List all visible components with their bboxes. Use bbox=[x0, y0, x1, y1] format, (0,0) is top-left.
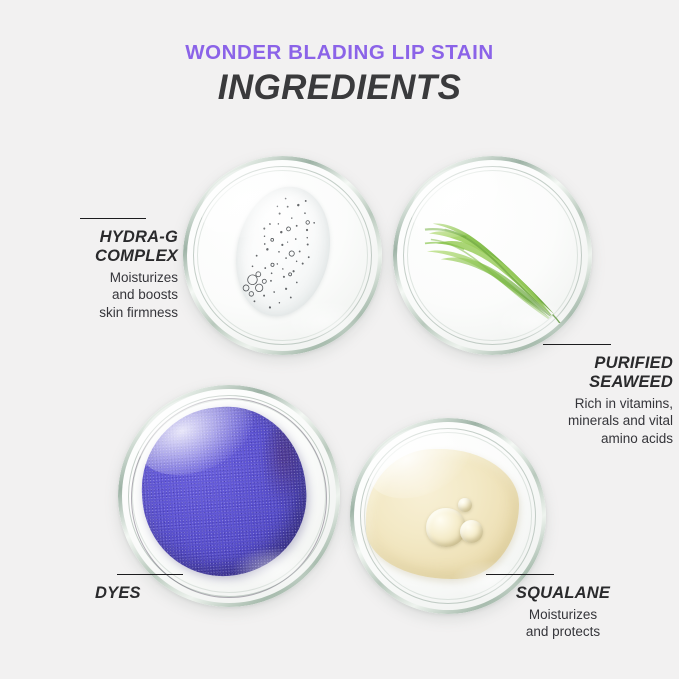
green-seaweed-strands bbox=[423, 200, 570, 323]
ingredients-infographic: WONDER BLADING LIP STAIN INGREDIENTS bbox=[0, 0, 679, 679]
dye-powder-shadow bbox=[260, 426, 301, 506]
callout-hydra-g-complex: HYDRA-G COMPLEX Moisturizes and boosts s… bbox=[18, 210, 178, 321]
header: WONDER BLADING LIP STAIN INGREDIENTS bbox=[0, 42, 679, 106]
callout-leader-line bbox=[80, 218, 146, 219]
callout-leader-line bbox=[543, 344, 611, 345]
callout-description: Moisturizes and protects bbox=[478, 606, 648, 640]
callout-dyes: DYES bbox=[95, 566, 215, 606]
petri-dish-hydra-g-complex bbox=[183, 156, 382, 355]
callout-description: Rich in vitamins, minerals and vital ami… bbox=[505, 395, 673, 446]
oil-droplet-small bbox=[458, 498, 472, 512]
brand-title: WONDER BLADING LIP STAIN bbox=[0, 42, 679, 65]
blue-violet-dye-powder bbox=[137, 402, 313, 582]
callout-purified-seaweed: PURIFIED SEAWEED Rich in vitamins, miner… bbox=[505, 336, 673, 447]
seaweed-icon bbox=[423, 200, 570, 323]
callout-leader-line bbox=[117, 574, 183, 575]
callout-label: SQUALANE bbox=[478, 566, 648, 603]
petri-dish-purified-seaweed bbox=[393, 156, 592, 355]
page-title: INGREDIENTS bbox=[0, 70, 679, 107]
callout-leader-line bbox=[486, 574, 554, 575]
callout-label: DYES bbox=[95, 566, 215, 603]
callout-description: Moisturizes and boosts skin firmness bbox=[18, 269, 178, 320]
callout-squalane: SQUALANE Moisturizes and protects bbox=[478, 566, 648, 640]
